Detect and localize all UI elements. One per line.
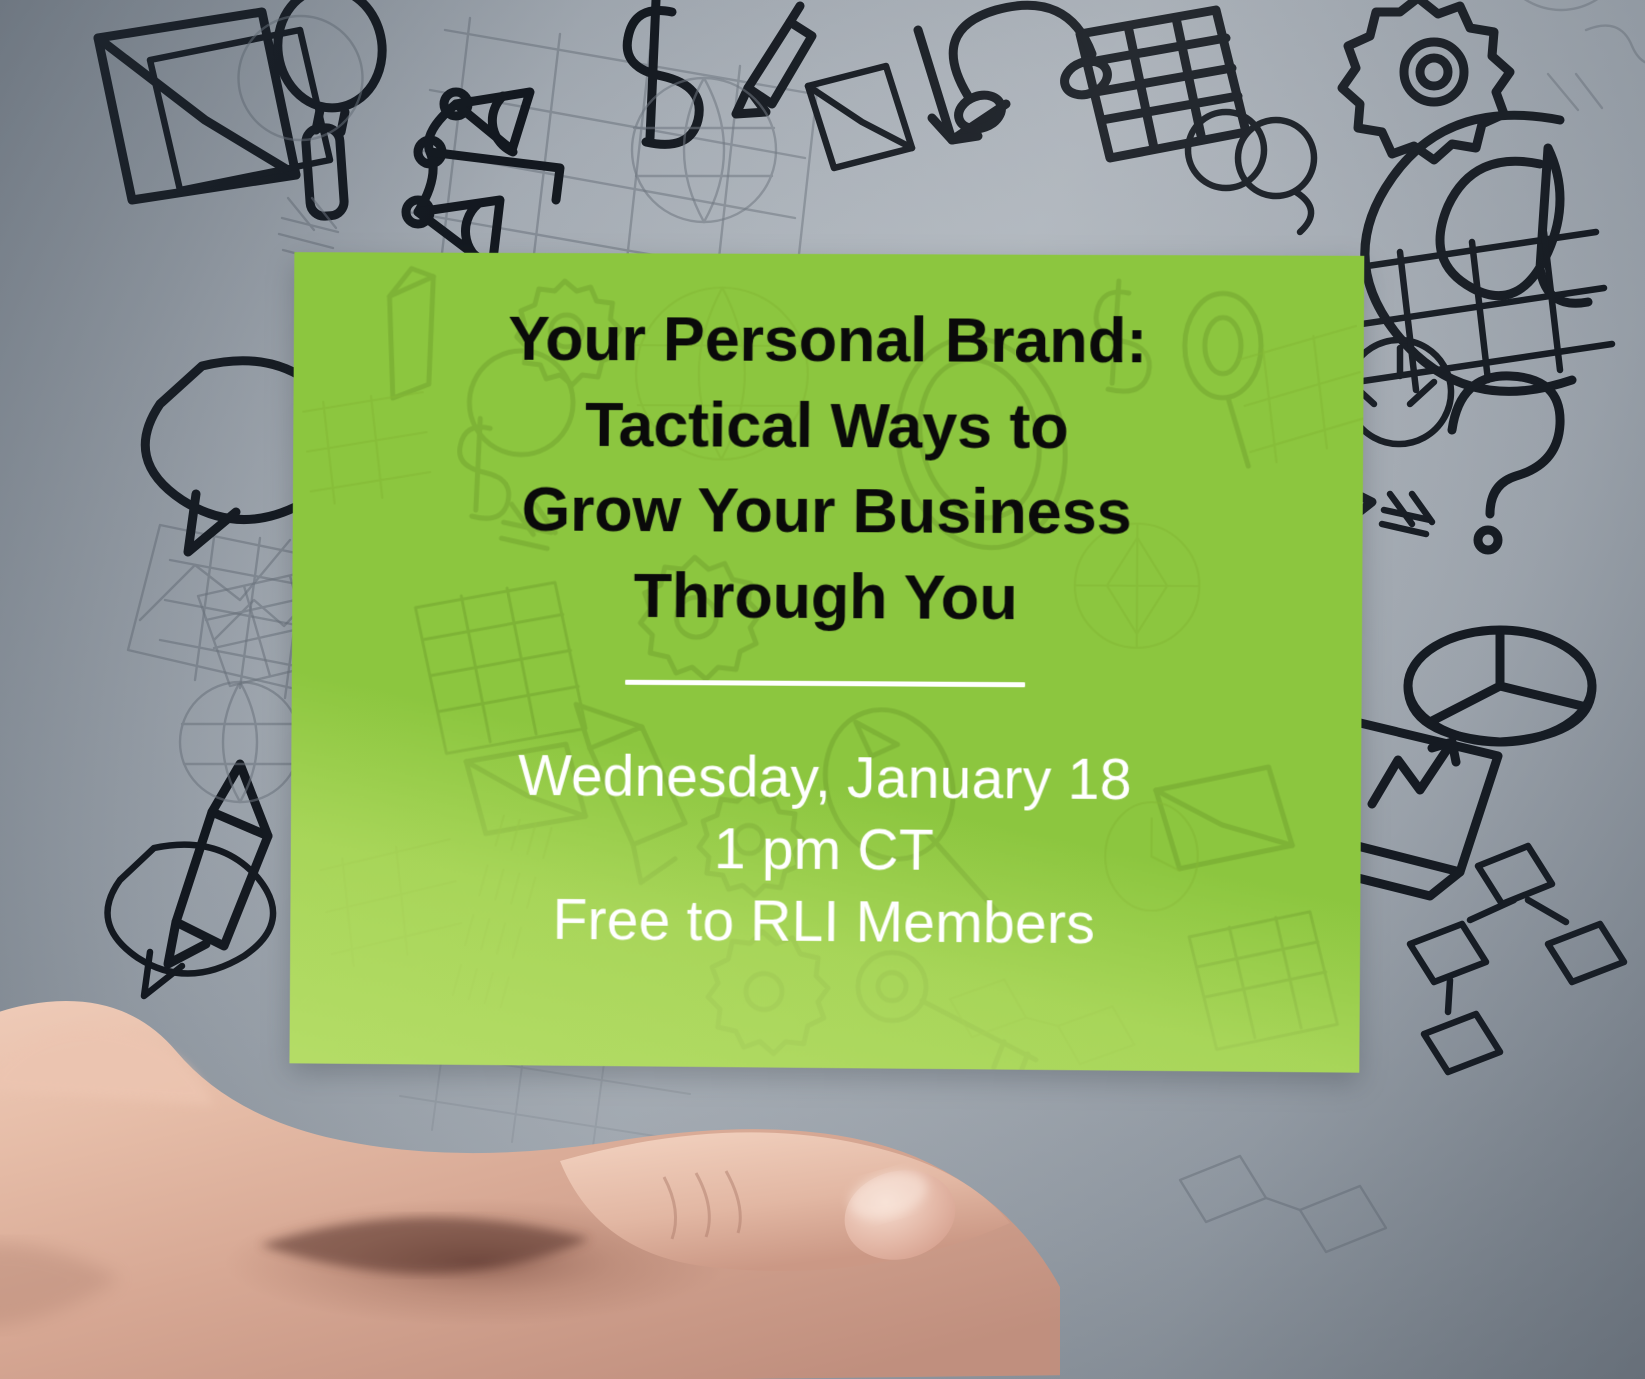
envelope-icon xyxy=(808,66,912,168)
venn-diagram-icon xyxy=(1188,112,1314,232)
event-price: Free to RLI Members xyxy=(517,884,1131,961)
pencil-icon xyxy=(736,6,812,114)
lightbulb-icon xyxy=(1495,0,1645,110)
event-details: Wednesday, January 18 1 pm CT Free to RL… xyxy=(517,740,1132,962)
question-mark-icon xyxy=(1452,376,1560,550)
title-line-3: Grow Your Business xyxy=(293,467,1363,558)
divider-rule xyxy=(625,679,1025,687)
globe-icon xyxy=(180,682,300,802)
envelope-icon xyxy=(150,30,330,190)
pie-chart-icon xyxy=(1408,630,1592,742)
gear-icon xyxy=(1342,0,1510,160)
card-content: Your Personal Brand: Tactical Ways to Gr… xyxy=(289,252,1364,1073)
flowchart-icon xyxy=(1410,846,1624,1072)
poster-canvas: Your Personal Brand: Tactical Ways to Gr… xyxy=(0,0,1645,1379)
flowchart-icon xyxy=(1180,1156,1386,1252)
scales-icon xyxy=(406,92,560,268)
event-date: Wednesday, January 18 xyxy=(518,740,1132,817)
title-line-2: Tactical Ways to xyxy=(293,381,1363,472)
event-time: 1 pm CT xyxy=(517,812,1131,889)
title-line-4: Through You xyxy=(292,552,1362,644)
event-card: Your Personal Brand: Tactical Ways to Gr… xyxy=(289,252,1364,1073)
title-line-1: Your Personal Brand: xyxy=(294,296,1364,386)
